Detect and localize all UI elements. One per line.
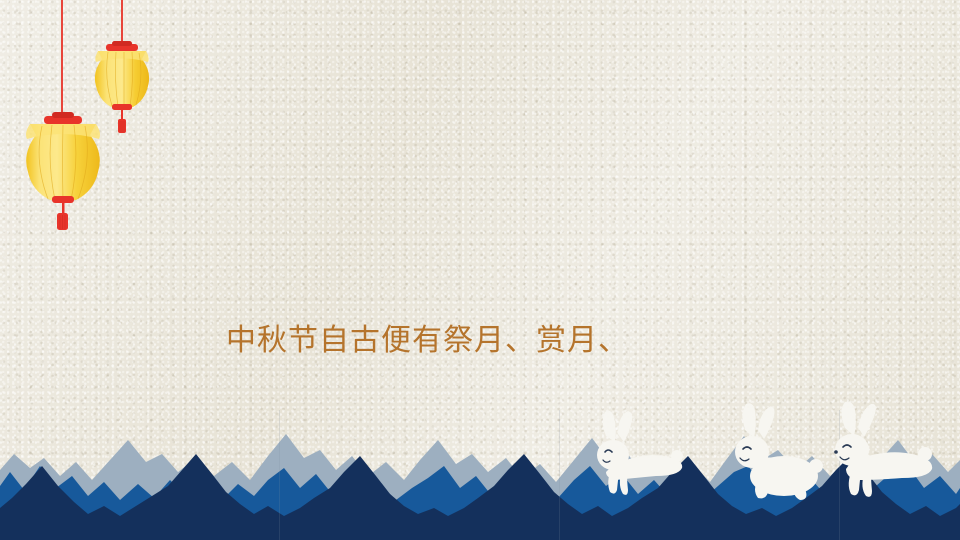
headline-line-1: 中秋节自古便有祭月、赏月、 — [168, 314, 688, 367]
lantern-string-small — [121, 0, 123, 46]
lanterns-svg — [0, 0, 200, 230]
lantern-decoration-group — [0, 0, 200, 230]
lantern-small — [95, 41, 149, 133]
mountain-range-decoration — [0, 410, 960, 540]
lantern-large — [26, 112, 100, 230]
lantern-string-large — [61, 0, 63, 118]
mountains-svg — [0, 410, 960, 540]
slide-canvas: 中秋节自古便有祭月、赏月、 拜月、吃月饼、赏桂花、饮桂花 酒、等习俗 — [0, 0, 960, 540]
